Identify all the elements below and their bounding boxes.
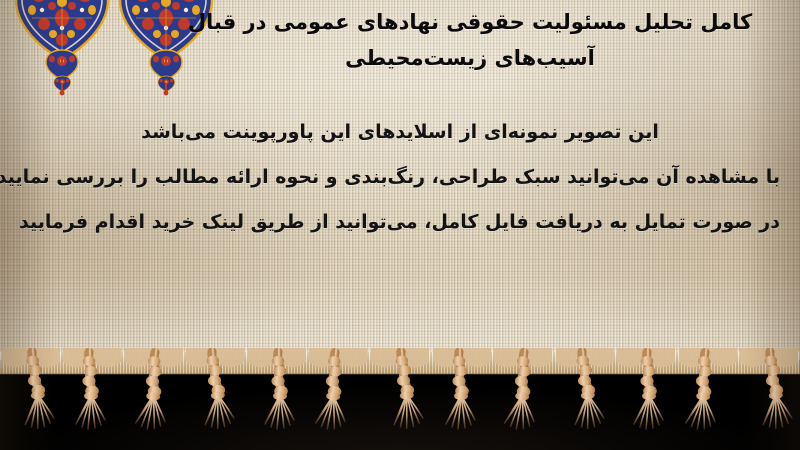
fringe-tassel [617, 348, 675, 450]
slide-title-line-1: کامل تحلیل مسئولیت حقوقی نهادهای عمومی د… [150, 4, 790, 40]
fringe-tassel [125, 348, 183, 450]
slide-body-line-3: در صورت تمایل به دریافت فایل کامل، می‌تو… [20, 200, 780, 245]
fringe-tassel [494, 348, 552, 450]
fringe-tassel [556, 348, 614, 450]
fringe-tassel [248, 348, 306, 450]
slide-body-line-1: این تصویر نمونه‌ای از اسلایدهای این پاور… [20, 110, 780, 155]
carpet-fringe-tassels [0, 348, 800, 450]
fringe-tassel [63, 348, 121, 450]
slide-body-line-2: با مشاهده آن می‌توانید سبک طراحی، رنگ‌بن… [20, 155, 780, 200]
presentation-slide: کامل تحلیل مسئولیت حقوقی نهادهای عمومی د… [0, 0, 800, 450]
fringe-tassel [371, 348, 429, 450]
fringe-tassel [679, 348, 737, 450]
slide-title-line-2: آسیب‌های زیست‌محیطی [150, 40, 790, 76]
persian-medallion-ornament-left [12, 0, 112, 100]
slide-title: کامل تحلیل مسئولیت حقوقی نهادهای عمومی د… [150, 4, 790, 76]
fringe-tassel [186, 348, 244, 450]
fringe-tassel [309, 348, 367, 450]
fringe-tassel [740, 348, 798, 450]
fringe-tassel [433, 348, 491, 450]
fringe-tassel [2, 348, 60, 450]
slide-body-text: این تصویر نمونه‌ای از اسلایدهای این پاور… [20, 110, 780, 245]
